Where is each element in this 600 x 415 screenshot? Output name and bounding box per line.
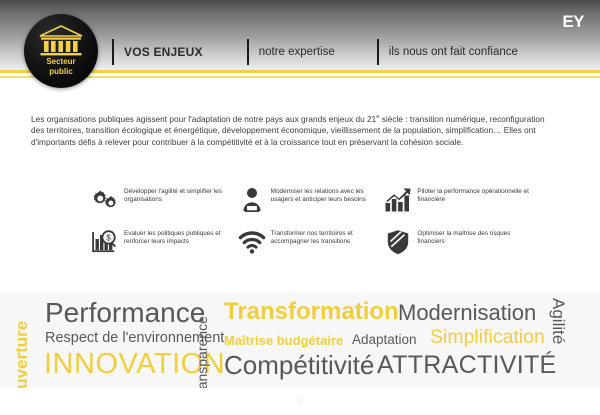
- challenge-label: Piloter la performance opérationnelle et…: [417, 186, 530, 205]
- intro-part1: Les organisations publiques agissent pou…: [31, 114, 376, 124]
- tab-vos-enjeux[interactable]: VOS ENJEUX: [112, 38, 247, 66]
- sector-badge-line2: public: [24, 67, 98, 77]
- challenge-item[interactable]: Piloter la performance opérationnelle et…: [383, 186, 530, 214]
- word-cloud-word-attractivite: ATTRACTIVITÉ: [377, 351, 557, 380]
- challenge-item[interactable]: $ Evaluer les politiques publiques et re…: [90, 228, 237, 256]
- word-cloud-word-transformation: Transformation: [224, 298, 399, 326]
- challenge-label: Développer l'agilité et simplifier les o…: [124, 186, 237, 205]
- sector-badge-label: Secteur public: [24, 57, 98, 77]
- word-cloud-word-transparence: Transparence: [194, 316, 210, 388]
- word-cloud-word-simplification: Simplification: [430, 326, 545, 349]
- word-cloud-word-maitrise-budgetaire: Maîtrise budgétaire: [224, 333, 343, 348]
- challenges-row-1: Développer l'agilité et simplifier les o…: [90, 186, 530, 214]
- word-cloud-word-performance: Performance: [45, 297, 205, 329]
- gears-icon: [90, 186, 120, 214]
- challenge-item[interactable]: Optimiser la maîtrise des risques financ…: [383, 228, 530, 256]
- sector-badge: Secteur public: [24, 14, 98, 88]
- ey-logo: EY: [562, 12, 584, 32]
- word-cloud-word-adaptation: Adaptation: [352, 332, 417, 347]
- challenge-label: Optimiser la maîtrise des risques financ…: [417, 228, 530, 247]
- challenges-grid: Développer l'agilité et simplifier les o…: [90, 186, 530, 270]
- challenge-label: Evaluer les politiques publiques et renf…: [124, 228, 237, 247]
- word-cloud: Ouverture Performance Respect de l'envir…: [0, 292, 600, 388]
- wifi-signal-icon: [237, 228, 267, 256]
- word-cloud-word-modernisation: Modernisation: [398, 300, 536, 326]
- challenge-label: Transformer nos territoires et accompagn…: [271, 228, 384, 247]
- svg-text:$: $: [106, 233, 111, 242]
- challenge-item[interactable]: Moderniser les relations avec les usager…: [237, 186, 384, 214]
- person-laptop-icon: [237, 186, 267, 214]
- section-tabs: VOS ENJEUX notre expertise ils nous ont …: [112, 38, 532, 66]
- word-cloud-word-agilite: Agilité: [548, 298, 568, 344]
- challenges-row-2: $ Evaluer les politiques publiques et re…: [90, 228, 530, 256]
- bar-chart-arrow-icon: [383, 186, 413, 214]
- challenge-item[interactable]: Développer l'agilité et simplifier les o…: [90, 186, 237, 214]
- tab-ils-nous-ont-fait-confiance[interactable]: ils nous ont fait confiance: [377, 38, 532, 66]
- challenge-item[interactable]: Transformer nos territoires et accompagn…: [237, 228, 384, 256]
- sector-badge-line1: Secteur: [24, 57, 98, 67]
- page-number: 17: [0, 398, 600, 404]
- word-cloud-word-ouverture: Ouverture: [12, 321, 32, 388]
- word-cloud-word-competitivite: Compétitivité: [224, 350, 374, 381]
- challenge-label: Moderniser les relations avec les usager…: [271, 186, 384, 205]
- intro-paragraph: Les organisations publiques agissent pou…: [31, 112, 550, 149]
- shield-icon: [383, 228, 413, 256]
- tab-notre-expertise[interactable]: notre expertise: [247, 38, 377, 66]
- chart-magnifier-icon: $: [90, 228, 120, 256]
